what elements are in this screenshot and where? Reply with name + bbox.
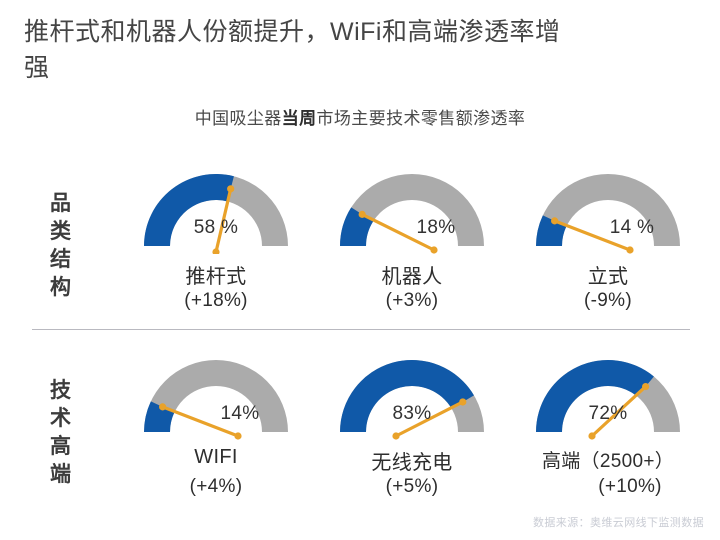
gauge-机器人: 18%机器人(+3%) bbox=[314, 162, 510, 332]
gauge-pointer-tip-dot bbox=[159, 403, 166, 410]
gauge-无线充电: 83%无线充电(+5%) bbox=[314, 348, 510, 518]
gauge-row-category-structure: 58 %推杆式(+18%)18%机器人(+3%)14 %立式(-9%) bbox=[118, 162, 708, 332]
gauge-立式: 14 %立式(-9%) bbox=[510, 162, 706, 332]
chart-subtitle: 中国吸尘器当周市场主要技术零售额渗透率 bbox=[0, 104, 720, 129]
gauge-dial-立式 bbox=[532, 162, 684, 254]
row-band-label-tech-premium-char-3: 端 bbox=[44, 461, 78, 489]
gauge-delta-label: (+4%) bbox=[118, 476, 314, 498]
row-band-label-category-structure-char-2: 结 bbox=[44, 246, 78, 274]
gauge-name-label: 高端（2500+） bbox=[510, 446, 706, 473]
gauge-delta-label: (+5%) bbox=[314, 476, 510, 498]
row-band-label-tech-premium-char-0: 技 bbox=[44, 377, 78, 405]
gauge-dial-高端（2500+） bbox=[532, 348, 684, 440]
gauge-pointer-pivot-dot bbox=[626, 246, 633, 253]
page-title: 推杆式和机器人份额提升，WiFi和高端渗透率增强 bbox=[24, 14, 584, 86]
gauge-dial-无线充电 bbox=[336, 348, 488, 440]
gauge-delta-label: (+3%) bbox=[314, 290, 510, 312]
gauge-推杆式: 58 %推杆式(+18%) bbox=[118, 162, 314, 332]
row-band-label-tech-premium-char-1: 术 bbox=[44, 405, 78, 433]
row-band-label-category-structure-char-0: 品 bbox=[44, 190, 78, 218]
gauge-dial-推杆式 bbox=[140, 162, 292, 254]
gauge-pointer-line bbox=[592, 387, 646, 436]
gauge-row-tech-premium: 14%WIFI(+4%)83%无线充电(+5%)72%高端（2500+）(+10… bbox=[118, 348, 708, 518]
source-note: 数据来源：奥维云网线下监测数据 bbox=[533, 514, 704, 530]
gauge-pointer-tip-dot bbox=[459, 398, 466, 405]
gauge-pointer-tip-dot bbox=[642, 383, 649, 390]
gauge-name-label: 推杆式 bbox=[118, 260, 314, 289]
row-band-label-category-structure-char-3: 构 bbox=[44, 274, 78, 302]
gauge-name-label: WIFI bbox=[118, 446, 314, 469]
gauge-pointer-line bbox=[396, 402, 463, 436]
gauge-name-label: 无线充电 bbox=[314, 446, 510, 475]
gauge-delta-label: (-9%) bbox=[510, 290, 706, 312]
gauge-dial-WIFI bbox=[140, 348, 292, 440]
chart-subtitle-after: 市场主要技术零售额渗透率 bbox=[317, 109, 526, 128]
gauge-pointer-tip-dot bbox=[551, 217, 558, 224]
chart-subtitle-emphasis: 当周 bbox=[282, 109, 317, 128]
gauge-dial-机器人 bbox=[336, 162, 488, 254]
row-band-label-tech-premium-char-2: 高 bbox=[44, 433, 78, 461]
gauge-value-arc bbox=[340, 360, 474, 432]
row-band-label-category-structure: 品类结构 bbox=[44, 190, 78, 302]
gauge-name-label: 机器人 bbox=[314, 260, 510, 289]
gauge-pointer-pivot-dot bbox=[392, 432, 399, 439]
row-band-label-tech-premium: 技术高端 bbox=[44, 377, 78, 489]
gauge-pointer-line bbox=[555, 221, 630, 250]
gauge-pointer-pivot-dot bbox=[234, 432, 241, 439]
gauge-pointer-tip-dot bbox=[227, 185, 234, 192]
gauge-name-label: 立式 bbox=[510, 260, 706, 289]
gauge-pointer-line bbox=[163, 407, 238, 436]
gauge-pointer-tip-dot bbox=[359, 211, 366, 218]
chart-subtitle-before: 中国吸尘器 bbox=[195, 109, 282, 128]
gauge-pointer-pivot-dot bbox=[430, 246, 437, 253]
gauge-delta-label: (+18%) bbox=[118, 290, 314, 312]
row-band-label-category-structure-char-1: 类 bbox=[44, 218, 78, 246]
gauge-WIFI: 14%WIFI(+4%) bbox=[118, 348, 314, 518]
gauge-pointer-pivot-dot bbox=[212, 248, 219, 254]
gauge-pointer-line bbox=[362, 214, 434, 250]
gauge-高端（2500+）: 72%高端（2500+）(+10%) bbox=[510, 348, 706, 518]
gauge-pointer-pivot-dot bbox=[588, 432, 595, 439]
gauge-delta-label: (+10%) bbox=[510, 476, 720, 498]
